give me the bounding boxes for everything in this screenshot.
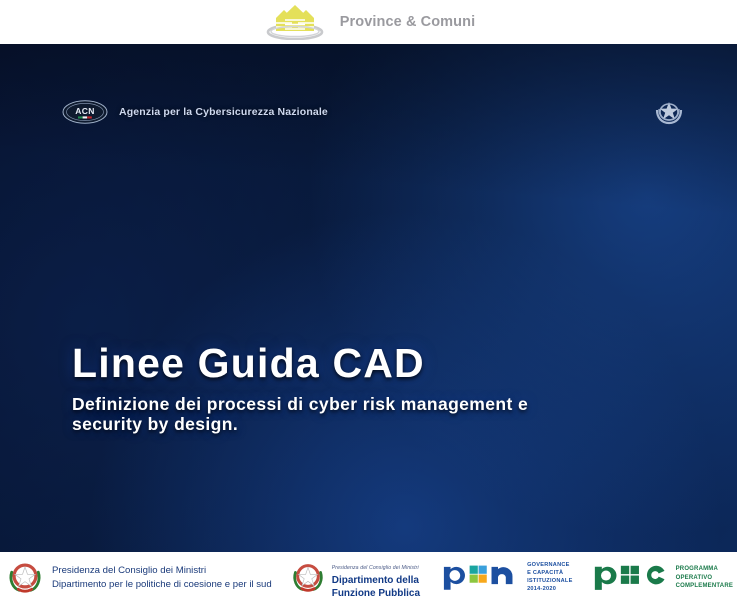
acn-header: ACN Agenzia per la Cybersicurezza Nazion… xyxy=(62,100,328,124)
footer-funzione-line0: Presidenza del Consiglio dei Ministri xyxy=(332,565,419,571)
acn-badge-icon: ACN xyxy=(62,100,108,124)
footer-pon-line3: ISTITUZIONALE xyxy=(527,578,573,584)
footer-funzione-line2: Funzione Pubblica xyxy=(332,588,420,599)
italian-republic-emblem-icon xyxy=(6,557,44,600)
page-title: Linee Guida CAD xyxy=(72,342,542,385)
cover-hero: ACN Agenzia per la Cybersicurezza Nazion… xyxy=(0,44,737,552)
footer-poc-line3: COMPLEMENTARE xyxy=(676,583,734,589)
italian-republic-emblem-icon xyxy=(651,98,687,126)
italian-republic-emblem-icon xyxy=(290,558,326,599)
top-bar: Province & Comuni xyxy=(0,0,737,44)
footer-item-funzione-pubblica: Presidenza del Consiglio dei Ministri Di… xyxy=(290,556,420,600)
province-comuni-title: Province & Comuni xyxy=(340,14,475,30)
footer-item-pon: GOVERNANCE E CAPACITÀ ISTITUZIONALE 2014… xyxy=(442,559,573,597)
footer-item-presidenza-coesione: Presidenza del Consiglio dei Ministri Di… xyxy=(6,557,272,600)
footer-pon-line4: 2014-2020 xyxy=(527,586,556,592)
footer-poc-text: PROGRAMMA OPERATIVO COMPLEMENTARE xyxy=(676,565,734,590)
footer-presidenza-line1: Presidenza del Consiglio dei Ministri xyxy=(52,565,206,576)
footer-item-poc: PROGRAMMA OPERATIVO COMPLEMENTARE xyxy=(593,560,734,597)
title-block: Linee Guida CAD Definizione dei processi… xyxy=(72,342,542,435)
footer-pon-line1: GOVERNANCE xyxy=(527,562,570,568)
svg-text:ACN: ACN xyxy=(75,106,95,116)
footer-pon-line2: E CAPACITÀ xyxy=(527,570,563,576)
footer-funzione-line1: Dipartimento della xyxy=(332,575,419,586)
footer-funzione-text: Presidenza del Consiglio dei Ministri Di… xyxy=(332,556,420,600)
acn-agency-name: Agenzia per la Cybersicurezza Nazionale xyxy=(119,106,328,118)
footer-pon-text: GOVERNANCE E CAPACITÀ ISTITUZIONALE 2014… xyxy=(527,562,573,594)
province-comuni-crown-icon xyxy=(262,4,328,40)
footer-presidenza-line2: Dipartimento per le politiche di coesion… xyxy=(52,579,272,590)
page-subtitle: Definizione dei processi di cyber risk m… xyxy=(72,394,542,435)
pon-logo-icon xyxy=(442,559,522,597)
footer-poc-line1: PROGRAMMA xyxy=(676,566,718,572)
footer-poc-line2: OPERATIVO xyxy=(676,575,713,581)
footer-presidenza-text: Presidenza del Consiglio dei Ministri Di… xyxy=(52,564,272,591)
footer-logo-bar: Presidenza del Consiglio dei Ministri Di… xyxy=(0,552,737,604)
poc-logo-icon xyxy=(593,560,671,597)
